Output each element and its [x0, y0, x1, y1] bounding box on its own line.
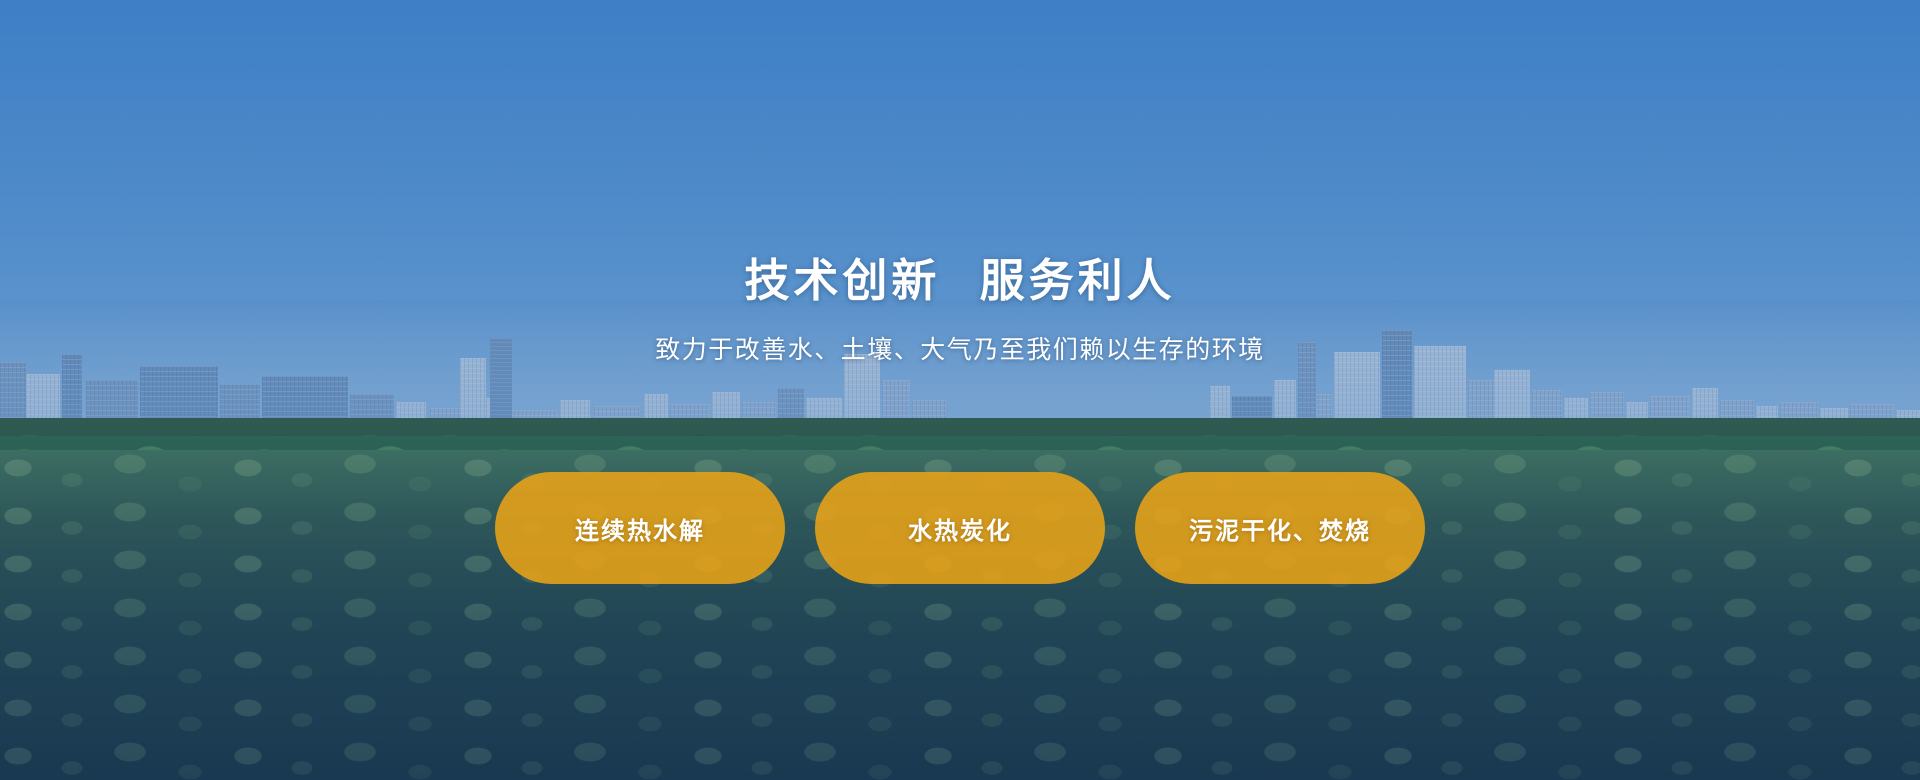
hero-button-row: 连续热水解 水热炭化 污泥干化、焚烧	[0, 472, 1920, 584]
cta-button-hydrothermal-carbonization[interactable]: 水热炭化	[815, 472, 1105, 584]
hero-banner: 技术创新 服务利人 致力于改善水、土壤、大气乃至我们赖以生存的环境 连续热水解 …	[0, 0, 1920, 780]
hero-subtitle: 致力于改善水、土壤、大气乃至我们赖以生存的环境	[655, 337, 1265, 362]
cta-button-sludge-drying-incineration[interactable]: 污泥干化、焚烧	[1135, 472, 1425, 584]
hero-title: 技术创新 服务利人	[744, 258, 1175, 303]
cta-button-continuous-thermal-hydrolysis[interactable]: 连续热水解	[495, 472, 785, 584]
hero-content: 技术创新 服务利人 致力于改善水、土壤、大气乃至我们赖以生存的环境	[0, 0, 1920, 780]
